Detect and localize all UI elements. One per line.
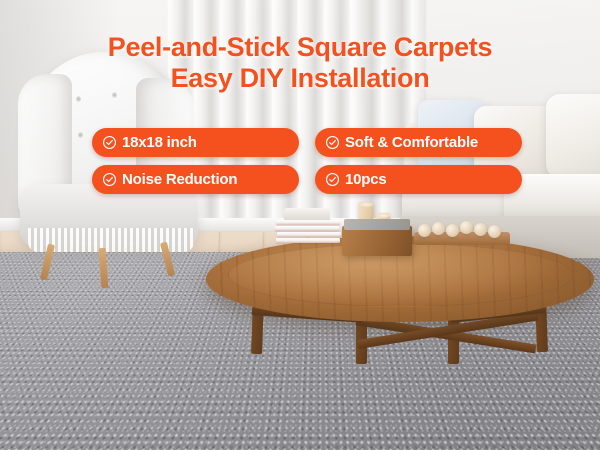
feature-badge-quantity[interactable]: 10pcs [315, 165, 522, 194]
feature-badge-label: Noise Reduction [122, 171, 237, 188]
headline-line-2: Easy DIY Installation [0, 63, 600, 94]
garland-bead [488, 225, 501, 238]
armchair-tuft [76, 96, 81, 102]
coffee-table [206, 236, 594, 366]
product-banner: Peel-and-Stick Square Carpets Easy DIY I… [0, 0, 600, 450]
check-circle-icon [325, 135, 340, 150]
throw-pillow-cream [546, 94, 600, 178]
garland-bead [446, 224, 459, 237]
book [276, 220, 340, 225]
feature-badge-size[interactable]: 18x18 inch [92, 128, 299, 157]
feature-badge-label: Soft & Comfortable [345, 134, 478, 151]
feature-badge-label: 18x18 inch [122, 134, 197, 151]
check-circle-icon [102, 135, 117, 150]
check-circle-icon [102, 172, 117, 187]
feature-badge-label: 10pcs [345, 171, 387, 188]
feature-badge-list: 18x18 inch Soft & Comfortable Noise Redu… [92, 128, 522, 194]
feature-badge-comfort[interactable]: Soft & Comfortable [315, 128, 522, 157]
check-circle-icon [325, 172, 340, 187]
book [275, 226, 339, 231]
book [276, 238, 340, 243]
wooden-box-lid [344, 219, 410, 230]
armchair-leg [99, 248, 109, 288]
feature-badge-noise[interactable]: Noise Reduction [92, 165, 299, 194]
candle-top [358, 202, 373, 207]
wooden-box [342, 226, 412, 256]
armchair-tuft [78, 132, 83, 138]
book-stack [276, 220, 340, 246]
garland-bead [460, 221, 473, 234]
book [277, 232, 341, 237]
garland-bead [432, 222, 445, 235]
garland-bead [474, 223, 487, 236]
headline: Peel-and-Stick Square Carpets Easy DIY I… [0, 32, 600, 94]
candle-top [376, 213, 390, 218]
headline-line-1: Peel-and-Stick Square Carpets [0, 32, 600, 63]
garland-bead [418, 224, 431, 237]
